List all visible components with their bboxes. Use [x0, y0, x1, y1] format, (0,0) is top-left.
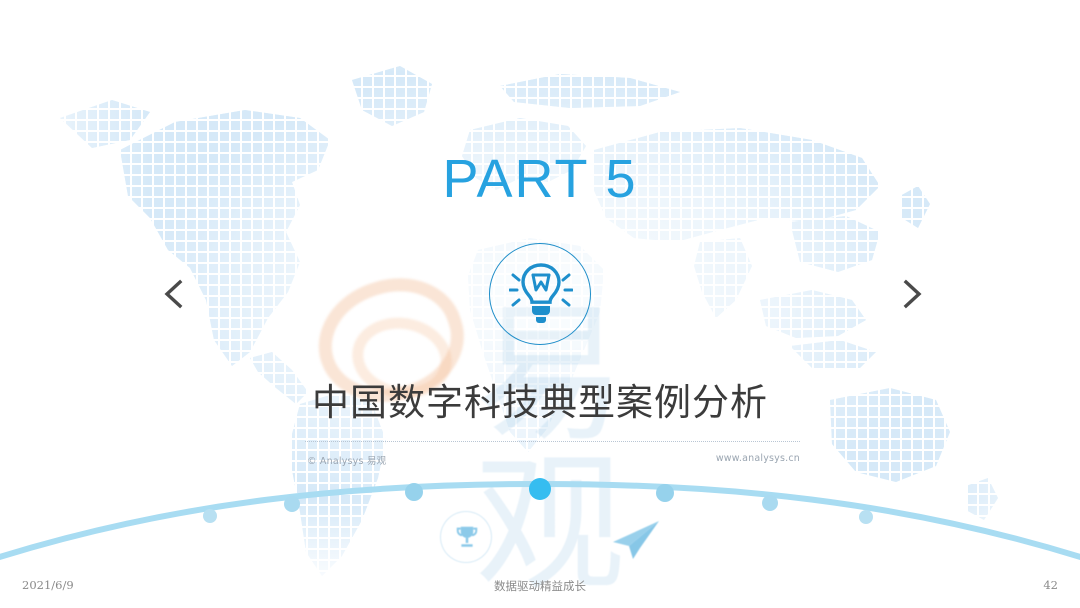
progress-dot-active	[529, 478, 551, 500]
chevron-left-icon[interactable]	[152, 272, 196, 316]
chevron-right-icon[interactable]	[890, 272, 934, 316]
section-progress-arc	[0, 455, 1080, 565]
credit-divider	[305, 441, 800, 442]
presentation-slide: 易观 PART 5	[0, 0, 1080, 608]
progress-dot	[203, 509, 217, 523]
progress-dot	[405, 483, 423, 501]
footer-tagline: 数据驱动精益成长	[0, 578, 1080, 594]
progress-dot	[859, 510, 873, 524]
progress-dot	[762, 495, 778, 511]
footer-page-number: 42	[1043, 578, 1058, 592]
progress-dots	[203, 478, 873, 524]
progress-dot	[656, 484, 674, 502]
slide-footer: 2021/6/9 数据驱动精益成长 42	[0, 578, 1080, 600]
lightbulb-icon[interactable]	[489, 243, 591, 345]
section-part-label: PART 5	[0, 148, 1080, 210]
progress-dot	[284, 496, 300, 512]
section-title: 中国数字科技典型案例分析	[0, 372, 1080, 426]
